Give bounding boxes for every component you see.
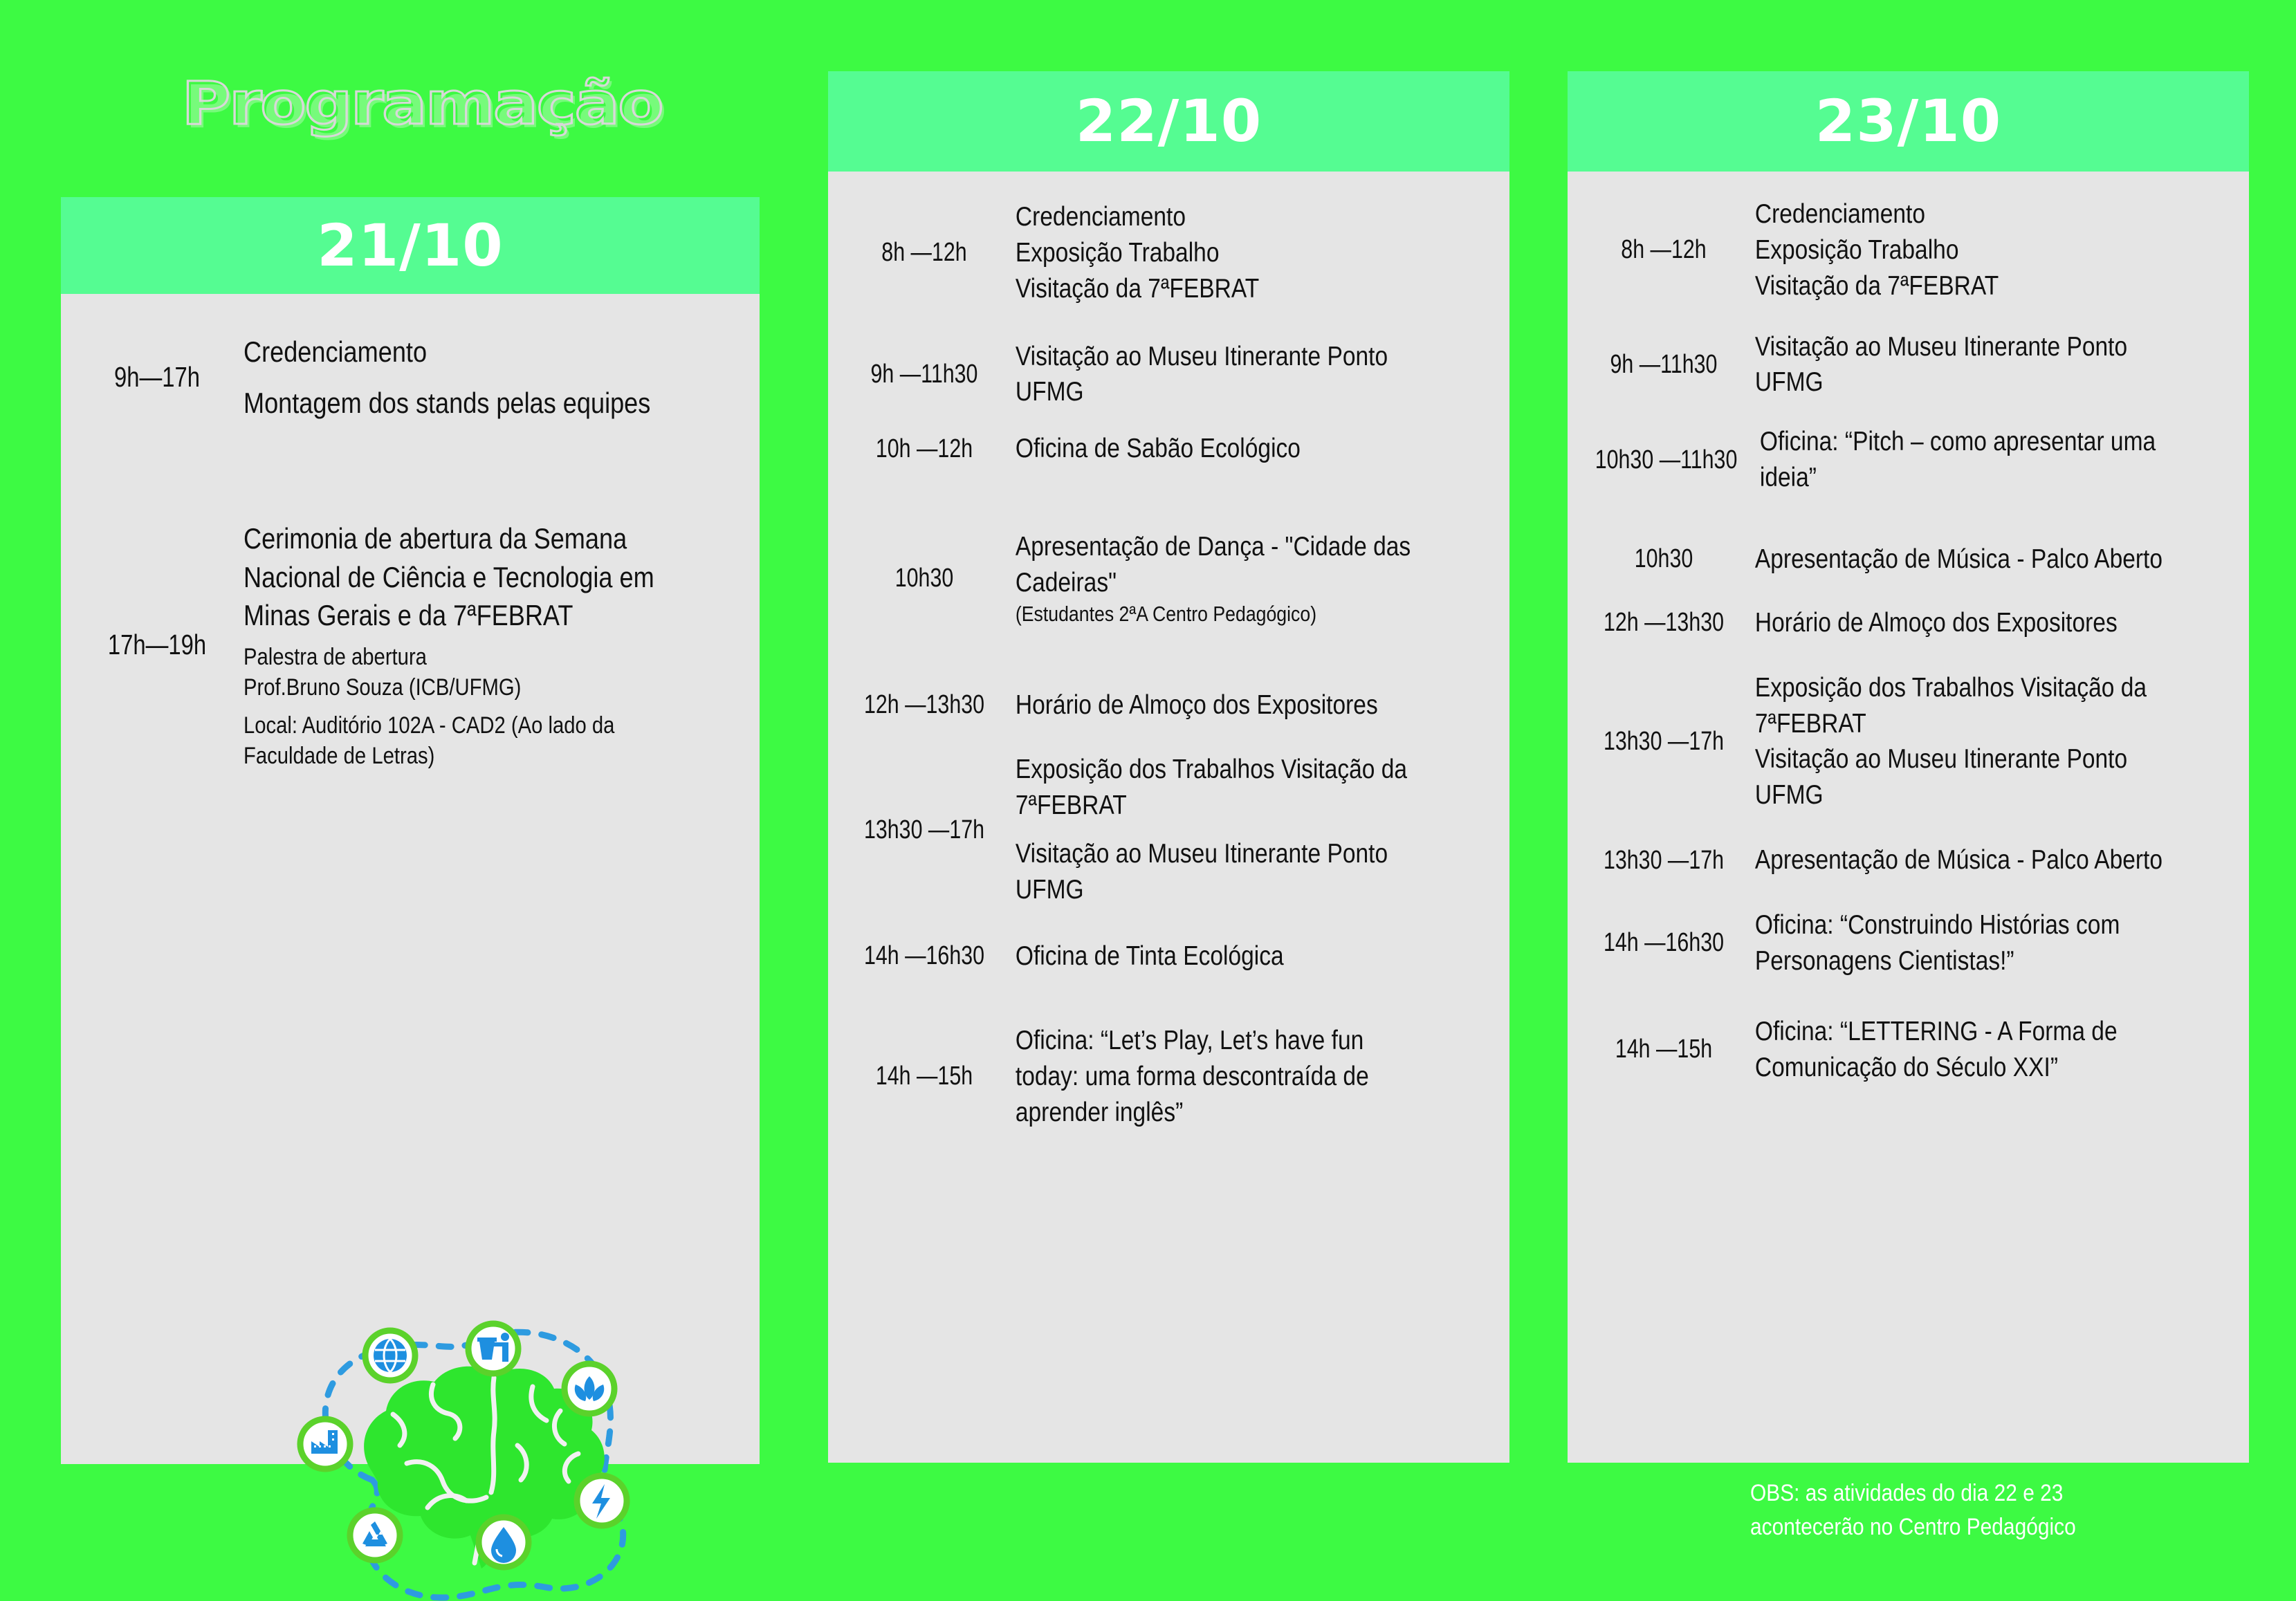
footer-note: OBS: as atividades do dia 22 e 23 aconte… xyxy=(1750,1477,2201,1545)
factory-icon xyxy=(300,1419,350,1469)
schedule-description: Oficina: “LETTERING - A Forma de Comunic… xyxy=(1750,1014,2164,1086)
schedule-time: 14h —15h xyxy=(855,1062,993,1091)
schedule-row: 12h —13h30 Horário de Almoço dos Exposit… xyxy=(838,687,1491,723)
schedule-line: Credenciamento xyxy=(1755,199,1925,229)
schedule-description: Oficina: “Construindo Histórias com Pers… xyxy=(1750,907,2164,979)
schedule-time: 12h —13h30 xyxy=(855,690,993,720)
schedule-row: 9h—17h Credenciamento Montagem dos stand… xyxy=(71,333,742,423)
schedule-description: Oficina de Tinta Ecológica xyxy=(1011,938,1424,974)
schedule-subline: Prof.Bruno Souza (ICB/UFMG) xyxy=(244,672,672,703)
schedule-description: Visitação ao Museu Itinerante Ponto UFMG xyxy=(1011,339,1424,411)
schedule-subline: Palestra de abertura xyxy=(244,642,672,672)
febrat-logo: 7ª FEBRAT xyxy=(289,1273,663,1601)
schedule-row: 14h —16h30 Oficina: “Construindo Históri… xyxy=(1577,907,2231,979)
schedule-row: 10h30 —11h30 Oficina: “Pitch – como apre… xyxy=(1577,424,2231,496)
schedule-description: Oficina: “Let’s Play, Let’s have fun tod… xyxy=(1011,1023,1424,1131)
logo-edition: 7ª xyxy=(378,1591,466,1601)
schedule-time: 10h30 xyxy=(855,564,993,593)
schedule-line: Visitação da 7ªFEBRAT xyxy=(1755,271,1999,301)
schedule-description: Horário de Almoço dos Expositores xyxy=(1750,605,2164,641)
schedule-row: 10h30 Apresentação de Dança - "Cidade da… xyxy=(838,529,1491,627)
schedule-time: 12h —13h30 xyxy=(1595,608,1733,638)
schedule-row: 10h30 Apresentação de Música - Palco Abe… xyxy=(1577,542,2231,577)
day-card-21-10: 21/10 9h—17h Credenciamento Montagem dos… xyxy=(61,197,760,1464)
schedule-line: Exposição dos Trabalhos Visitação da 7ªF… xyxy=(1016,755,1407,820)
spacer xyxy=(1016,824,1424,836)
schedule-row: 17h—19h Cerimonia de abertura da Semana … xyxy=(71,519,742,771)
schedule-description: Apresentação de Música - Palco Aberto xyxy=(1750,842,2164,878)
schedule-time: 14h —16h30 xyxy=(855,941,993,971)
day-body-23-10: 8h —12h Credenciamento Exposição Trabalh… xyxy=(1568,172,2249,1092)
schedule-time: 8h —12h xyxy=(855,238,993,268)
recycle-icon xyxy=(350,1510,400,1560)
day-body-22-10: 8h —12h Credenciamento Exposição Trabalh… xyxy=(828,172,1509,1137)
schedule-line: Credenciamento xyxy=(244,335,427,368)
schedule-row: 8h —12h Credenciamento Exposição Trabalh… xyxy=(838,199,1491,307)
schedule-description: Apresentação de Dança - "Cidade das Cade… xyxy=(1011,529,1424,627)
schedule-line: Exposição dos Trabalhos Visitação da 7ªF… xyxy=(1755,673,2147,739)
schedule-description: Credenciamento Exposição Trabalho Visita… xyxy=(1011,199,1424,307)
globe-icon xyxy=(365,1331,415,1380)
schedule-description: Apresentação de Música - Palco Aberto xyxy=(1750,542,2164,577)
schedule-line: Credenciamento xyxy=(1016,202,1186,232)
schedule-row: 14h —16h30 Oficina de Tinta Ecológica xyxy=(838,938,1491,974)
schedule-time: 14h —15h xyxy=(1595,1035,1733,1064)
spacer xyxy=(244,371,672,384)
schedule-row: 10h —12h Oficina de Sabão Ecológico xyxy=(838,431,1491,467)
water-drop-icon xyxy=(479,1517,529,1567)
schedule-time: 13h30 —17h xyxy=(855,815,993,845)
schedule-note: (Estudantes 2ªA Centro Pedagógico) xyxy=(1016,601,1424,628)
day-header-23-10: 23/10 xyxy=(1568,71,2249,172)
schedule-line: Apresentação de Dança - "Cidade das Cade… xyxy=(1016,532,1411,598)
schedule-time: 8h —12h xyxy=(1595,235,1733,265)
schedule-time: 9h —11h30 xyxy=(1595,350,1733,380)
schedule-line: Visitação ao Museu Itinerante Ponto UFMG xyxy=(1755,744,2127,810)
schedule-row: 14h —15h Oficina: “Let’s Play, Let’s hav… xyxy=(838,1023,1491,1131)
schedule-description: Visitação ao Museu Itinerante Ponto UFMG xyxy=(1750,329,2164,401)
schedule-time: 10h30 xyxy=(1595,544,1733,574)
footer-note-line-1: OBS: as atividades do dia 22 e 23 xyxy=(1750,1477,2201,1510)
schedule-description: Horário de Almoço dos Expositores xyxy=(1011,687,1424,723)
page-title: Programação xyxy=(127,69,716,138)
schedule-description: Oficina: “Pitch – como apresentar uma id… xyxy=(1755,424,2165,496)
day-body-21-10: 9h—17h Credenciamento Montagem dos stand… xyxy=(61,294,760,778)
schedule-line: Visitação da 7ªFEBRAT xyxy=(1016,274,1259,304)
schedule-time: 10h —12h xyxy=(855,434,993,464)
schedule-subline: Local: Auditório 102A - CAD2 (Ao lado da… xyxy=(244,710,672,771)
schedule-row: 13h30 —17h Exposição dos Trabalhos Visit… xyxy=(838,752,1491,907)
schedule-description: Exposição dos Trabalhos Visitação da 7ªF… xyxy=(1750,670,2164,813)
schedule-line: Cerimonia de abertura da Semana Nacional… xyxy=(244,522,654,632)
footer-note-line-2: acontecerão no Centro Pedagógico xyxy=(1750,1510,2201,1544)
schedule-line: Exposição Trabalho xyxy=(1755,235,1959,265)
day-card-23-10: 23/10 8h —12h Credenciamento Exposição T… xyxy=(1568,71,2249,1463)
schedule-time: 13h30 —17h xyxy=(1595,727,1733,757)
lightning-bolt-icon xyxy=(577,1476,627,1526)
schedule-description: Exposição dos Trabalhos Visitação da 7ªF… xyxy=(1011,752,1424,907)
schedule-line: Visitação ao Museu Itinerante Ponto UFMG xyxy=(1016,839,1388,905)
schedule-row: 13h30 —17h Apresentação de Música - Palc… xyxy=(1577,842,2231,878)
schedule-time: 9h —11h30 xyxy=(855,360,993,389)
schedule-row: 14h —15h Oficina: “LETTERING - A Forma d… xyxy=(1577,1014,2231,1086)
schedule-line: Exposição Trabalho xyxy=(1016,238,1220,268)
schedule-line: Montagem dos stands pelas equipes xyxy=(244,387,650,419)
schedule-description: Credenciamento Exposição Trabalho Visita… xyxy=(1750,196,2164,304)
schedule-description: Oficina de Sabão Ecológico xyxy=(1011,431,1424,467)
schedule-description: Credenciamento Montagem dos stands pelas… xyxy=(244,333,672,423)
schedule-time: 13h30 —17h xyxy=(1595,846,1733,876)
schedule-row: 8h —12h Credenciamento Exposição Trabalh… xyxy=(1577,196,2231,304)
litter-bin-icon xyxy=(468,1324,518,1373)
schedule-time: 10h30 —11h30 xyxy=(1595,445,1738,475)
schedule-time: 14h —16h30 xyxy=(1595,928,1733,958)
day-card-22-10: 22/10 8h —12h Credenciamento Exposição T… xyxy=(828,71,1509,1463)
schedule-row: 13h30 —17h Exposição dos Trabalhos Visit… xyxy=(1577,670,2231,813)
schedule-time: 17h—19h xyxy=(88,629,226,661)
schedule-row: 9h —11h30 Visitação ao Museu Itinerante … xyxy=(838,339,1491,411)
day-header-22-10: 22/10 xyxy=(828,71,1509,172)
leaves-icon xyxy=(564,1364,614,1414)
schedule-row: 9h —11h30 Visitação ao Museu Itinerante … xyxy=(1577,329,2231,401)
schedule-time: 9h—17h xyxy=(88,361,226,394)
schedule-row: 12h —13h30 Horário de Almoço dos Exposit… xyxy=(1577,605,2231,641)
schedule-description: Cerimonia de abertura da Semana Nacional… xyxy=(244,519,672,771)
day-header-21-10: 21/10 xyxy=(61,197,760,294)
